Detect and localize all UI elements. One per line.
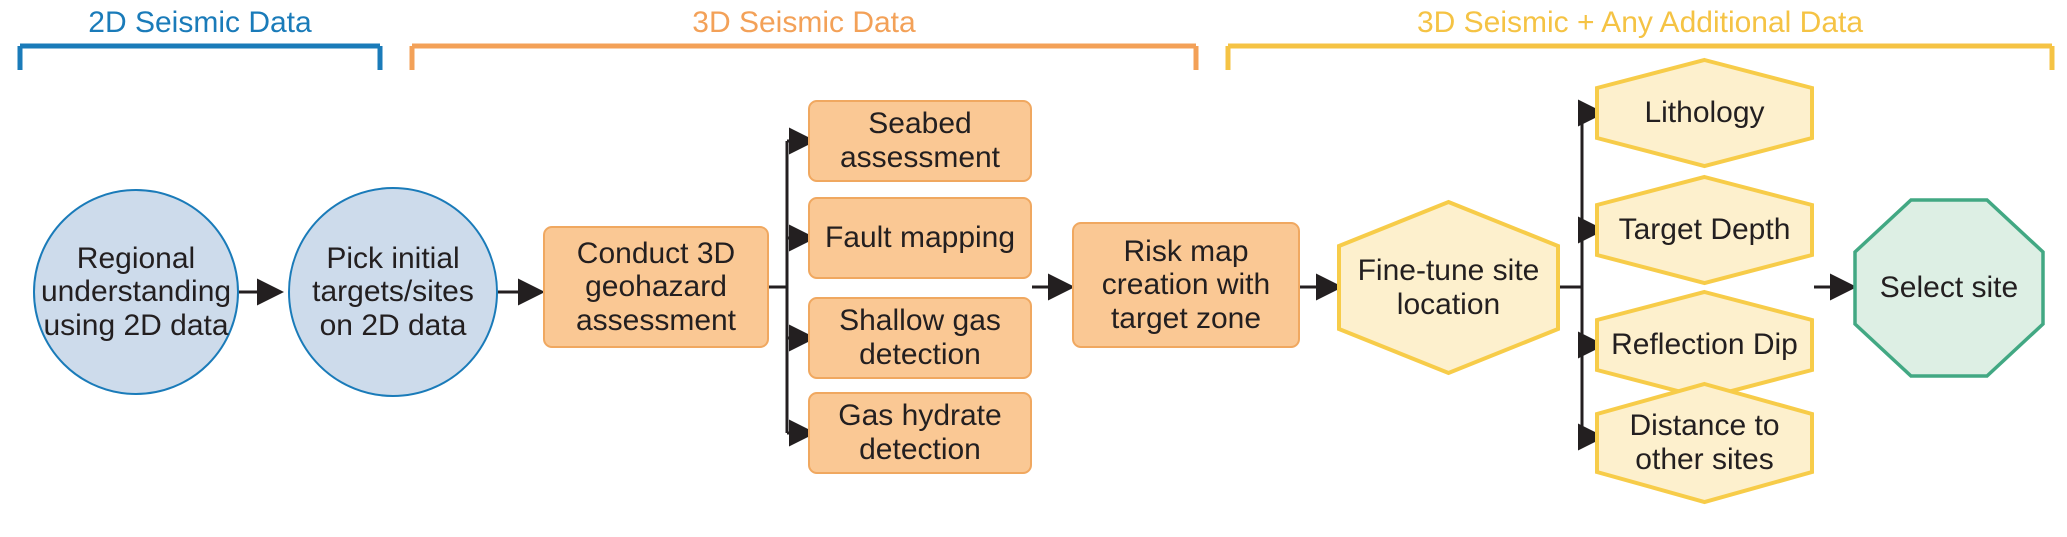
node-label: Seabed assessment <box>816 107 1024 174</box>
node-label: Fault mapping <box>825 221 1015 255</box>
node-risk-map-creation[interactable]: Risk map creation with target zone <box>1072 222 1300 348</box>
node-select-site[interactable]: Select site <box>1853 198 2045 378</box>
node-label: Conduct 3D geohazard assessment <box>553 237 759 338</box>
node-seabed-assessment[interactable]: Seabed assessment <box>808 100 1032 182</box>
node-pick-initial-targets[interactable]: Pick initial targets/sites on 2D data <box>288 187 498 397</box>
node-label: Shallow gas detection <box>816 304 1024 371</box>
node-label: Pick initial targets/sites on 2D data <box>302 242 484 343</box>
workflow-diagram: 2D Seismic Data 3D Seismic Data 3D Seism… <box>0 0 2067 537</box>
arrow-pick-to-conduct <box>498 282 548 302</box>
node-lithology[interactable]: Lithology <box>1595 58 1814 168</box>
node-distance-to-other-sites[interactable]: Distance to other sites <box>1595 382 1814 504</box>
node-label: Regional understanding using 2D data <box>41 242 231 343</box>
arrow-regional-to-pick <box>239 282 285 302</box>
node-gas-hydrate-detection[interactable]: Gas hydrate detection <box>808 392 1032 474</box>
node-fault-mapping[interactable]: Fault mapping <box>808 197 1032 279</box>
node-target-depth[interactable]: Target Depth <box>1595 175 1814 285</box>
phase-bracket-2d-seismic-data <box>0 0 420 100</box>
node-fine-tune-site-location[interactable]: Fine-tune site location <box>1337 200 1560 375</box>
node-shallow-gas-detection[interactable]: Shallow gas detection <box>808 297 1032 379</box>
node-regional-understanding[interactable]: Regional understanding using 2D data <box>33 189 239 395</box>
phase-bracket-3d-seismic-data <box>400 0 1220 100</box>
node-label: Risk map creation with target zone <box>1082 235 1290 336</box>
node-conduct-3d-geohazard-assessment[interactable]: Conduct 3D geohazard assessment <box>543 226 769 348</box>
node-label: Gas hydrate detection <box>816 399 1024 466</box>
